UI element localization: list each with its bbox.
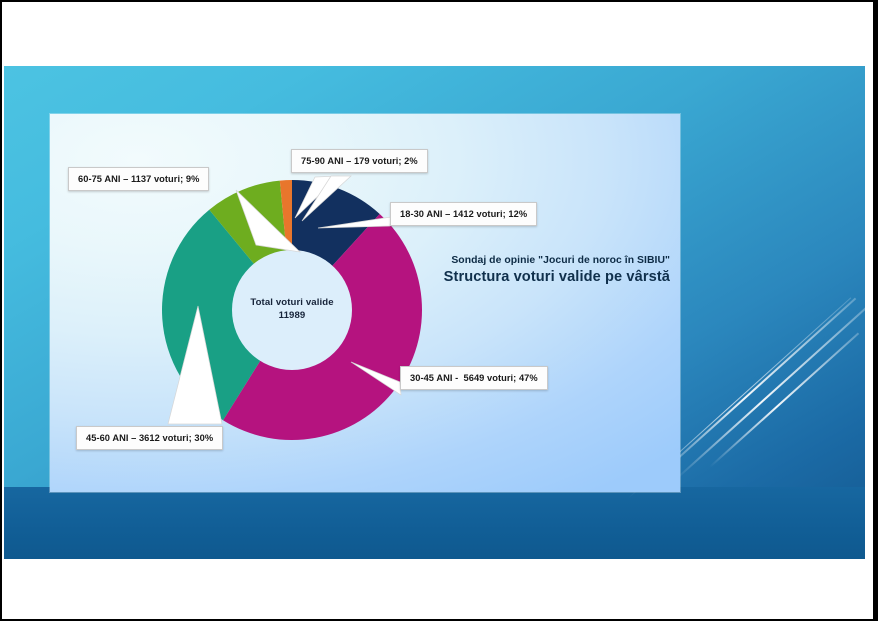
callout-label-75-90[interactable]: 75-90 ANI – 179 voturi; 2% <box>291 149 428 173</box>
slide-footer-band <box>4 487 865 559</box>
center-total-label: Total voturi valide <box>250 297 333 310</box>
decorative-streak-icon <box>654 298 856 480</box>
callout-label-45-60[interactable]: 45-60 ANI – 3612 voturi; 30% <box>76 426 223 450</box>
chart-panel: Total voturi valide 11989 60-75 ANI – 1 <box>50 114 680 492</box>
center-total-value: 11989 <box>250 310 333 323</box>
chart-title: Structura voturi valide pe vârstă <box>405 269 670 285</box>
decorative-streak-icon <box>675 306 865 480</box>
callout-label-30-45[interactable]: 30-45 ANI - 5649 voturi; 47% <box>400 366 548 390</box>
callout-label-18-30[interactable]: 18-30 ANI – 1412 voturi; 12% <box>390 202 537 226</box>
donut-chart: Total voturi valide 11989 <box>158 176 426 444</box>
page-frame: Total voturi valide 11989 60-75 ANI – 1 <box>0 0 878 621</box>
donut-center-text: Total voturi valide 11989 <box>250 297 333 323</box>
chart-subtitle: Sondaj de opinie "Jocuri de noroc în SIB… <box>405 254 670 267</box>
decorative-streak-icon <box>709 332 859 468</box>
callout-label-60-75[interactable]: 60-75 ANI – 1137 voturi; 9% <box>68 167 209 191</box>
chart-title-block: Sondaj de opinie "Jocuri de noroc în SIB… <box>405 254 670 285</box>
presentation-slide: Total voturi valide 11989 60-75 ANI – 1 <box>4 66 865 559</box>
